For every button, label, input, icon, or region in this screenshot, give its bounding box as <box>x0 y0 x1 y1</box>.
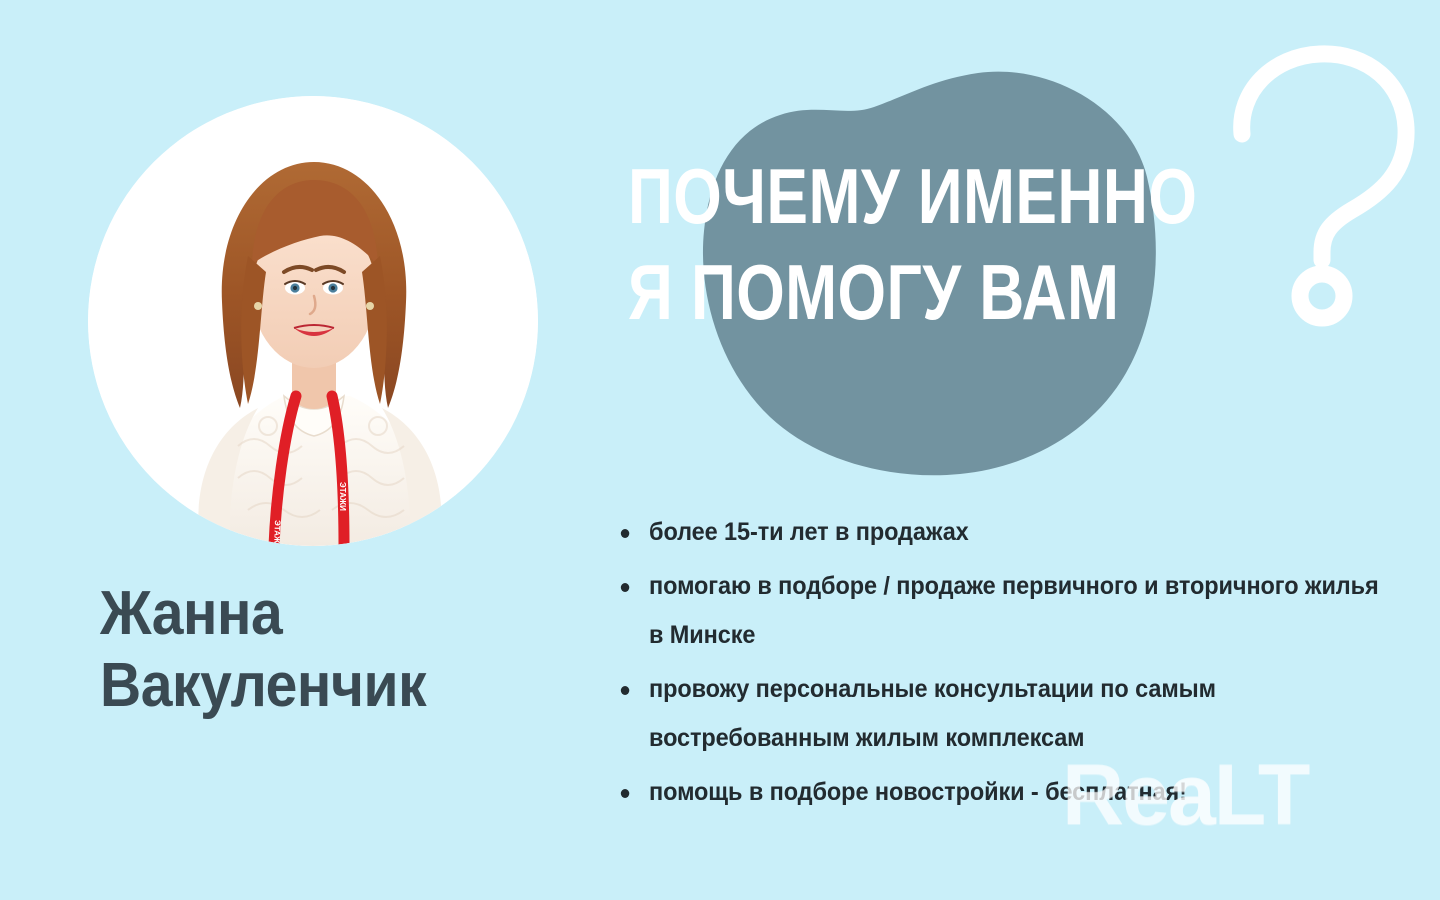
list-item: провожу персональные консультации по сам… <box>618 665 1389 763</box>
list-item: более 15-ти лет в продажах <box>618 508 1389 557</box>
agent-name: Жанна Вакуленчик <box>100 578 542 722</box>
list-item: помощь в подборе новостройки - бесплатна… <box>618 768 1389 817</box>
benefit-text: провожу персональные консультации по сам… <box>649 675 1216 752</box>
benefits-list: более 15-ти лет в продажах помогаю в под… <box>618 508 1438 822</box>
benefit-text: более 15-ти лет в продажах <box>649 518 969 546</box>
question-mark-icon <box>1228 38 1428 328</box>
lanyard-badge-text-1: ЭТАЖИ <box>338 482 347 511</box>
bullet-dot-icon <box>621 583 629 592</box>
lanyard-badge-text-2: ЭТАЖИ <box>272 520 282 546</box>
headline-line-2: Я ПОМОГУ ВАМ <box>628 244 1188 340</box>
agent-portrait: ЭТАЖИ ЭТАЖИ <box>88 96 538 546</box>
list-item: помогаю в подборе / продаже первичного и… <box>618 562 1389 660</box>
bullet-dot-icon <box>621 686 629 695</box>
bullet-dot-icon <box>621 529 629 538</box>
banner-canvas: ПОЧЕМУ ИМЕННО Я ПОМОГУ ВАМ <box>0 0 1440 900</box>
bullet-dot-icon <box>621 789 629 798</box>
portrait-illustration: ЭТАЖИ ЭТАЖИ <box>88 96 538 546</box>
agent-first-name: Жанна <box>100 578 542 650</box>
headline-line-1: ПОЧЕМУ ИМЕННО <box>628 148 1188 244</box>
headline: ПОЧЕМУ ИМЕННО Я ПОМОГУ ВАМ <box>628 148 1188 340</box>
benefit-text: помощь в подборе новостройки - бесплатна… <box>649 778 1187 806</box>
agent-last-name: Вакуленчик <box>100 650 542 722</box>
portrait-circle-mask: ЭТАЖИ ЭТАЖИ <box>88 96 538 546</box>
benefit-text: помогаю в подборе / продаже первичного и… <box>649 572 1379 649</box>
